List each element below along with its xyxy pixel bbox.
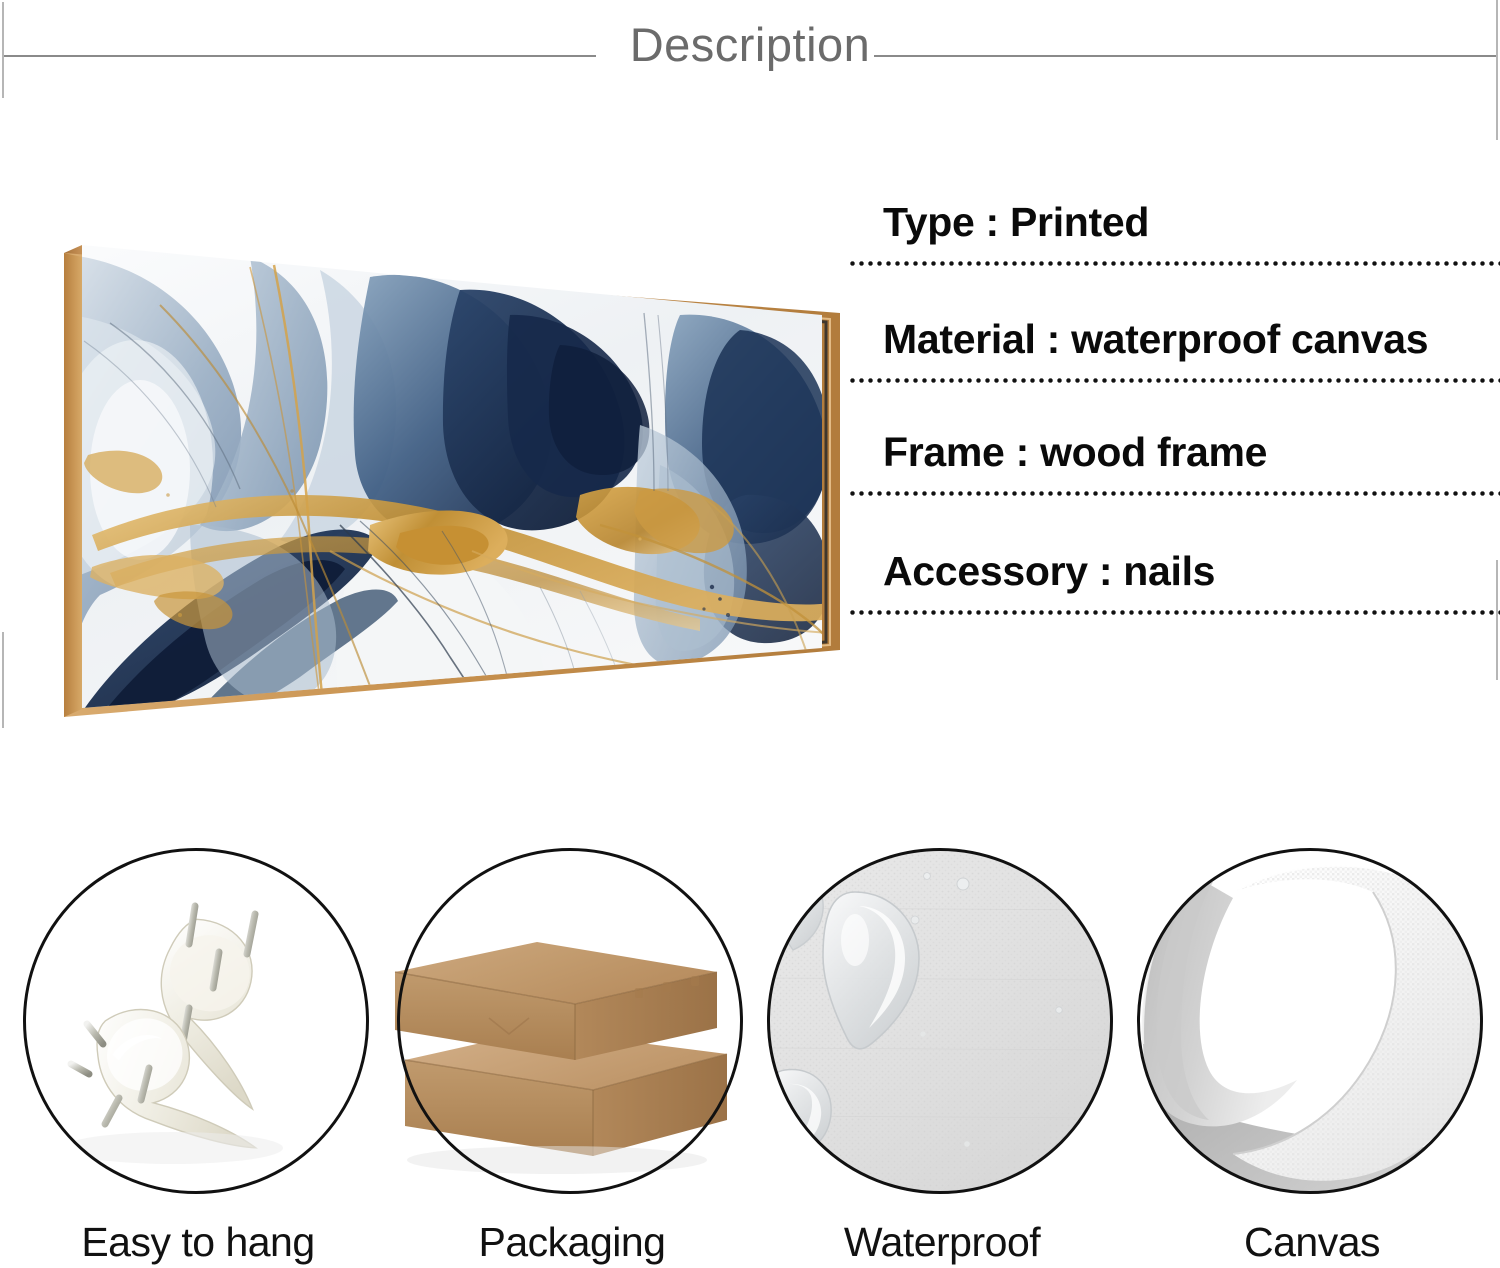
- edge-tick-top-left: [2, 2, 4, 98]
- wall-hook-icon: [23, 848, 369, 1194]
- product-hero-image: [40, 195, 840, 740]
- artwork-svg: [40, 195, 840, 740]
- spec-row-material: Material : waterproof canvas: [848, 313, 1500, 384]
- spec-row-frame: Frame : wood frame: [848, 426, 1500, 497]
- spec-text-accessory: Accessory : nails: [848, 545, 1500, 597]
- spec-row-accessory: Accessory : nails: [848, 545, 1500, 616]
- canvas-roll-icon: [1137, 848, 1483, 1194]
- feature-easy-to-hang: Easy to hang: [18, 848, 378, 1268]
- carton-box-upper: [395, 942, 717, 1060]
- spec-divider-material: [848, 377, 1500, 384]
- feature-label-waterproof: Waterproof: [762, 1216, 1122, 1268]
- feature-circle-waterproof: [767, 848, 1117, 1198]
- page-title: Description: [0, 14, 1500, 76]
- spec-divider-type: [848, 260, 1500, 267]
- specification-list: Type : Printed Material : waterproof can…: [848, 196, 1500, 616]
- feature-waterproof: Waterproof: [762, 848, 1122, 1268]
- framed-abstract-canvas: [40, 195, 840, 740]
- spec-divider-accessory: [848, 609, 1500, 616]
- carton-box-icon: [397, 848, 743, 1194]
- feature-label-packaging: Packaging: [392, 1216, 752, 1268]
- feature-highlights: Easy to hang: [0, 848, 1500, 1265]
- feature-circle-canvas: [1137, 848, 1487, 1198]
- edge-tick-mid-left: [2, 632, 4, 728]
- spec-text-frame: Frame : wood frame: [848, 426, 1500, 478]
- feature-circle-packaging: [397, 848, 747, 1198]
- water-drop-icon: [767, 848, 1113, 1194]
- feature-packaging: Packaging: [392, 848, 752, 1268]
- feature-circle-easy-to-hang: [23, 848, 373, 1198]
- carton-box-photo: [397, 848, 743, 1194]
- edge-tick-top-right: [1496, 0, 1498, 140]
- page-header: Description: [0, 0, 1500, 110]
- spec-text-material: Material : waterproof canvas: [848, 313, 1500, 365]
- spec-text-type: Type : Printed: [848, 196, 1500, 248]
- feature-label-canvas: Canvas: [1132, 1216, 1492, 1268]
- feature-canvas: Canvas: [1132, 848, 1492, 1268]
- wall-hook-photo: [23, 848, 369, 1194]
- feature-label-easy-to-hang: Easy to hang: [18, 1216, 378, 1268]
- spec-row-type: Type : Printed: [848, 196, 1500, 267]
- canvas-roll-photo: [1137, 848, 1483, 1194]
- spec-divider-frame: [848, 490, 1500, 497]
- water-drop-photo: [767, 848, 1113, 1194]
